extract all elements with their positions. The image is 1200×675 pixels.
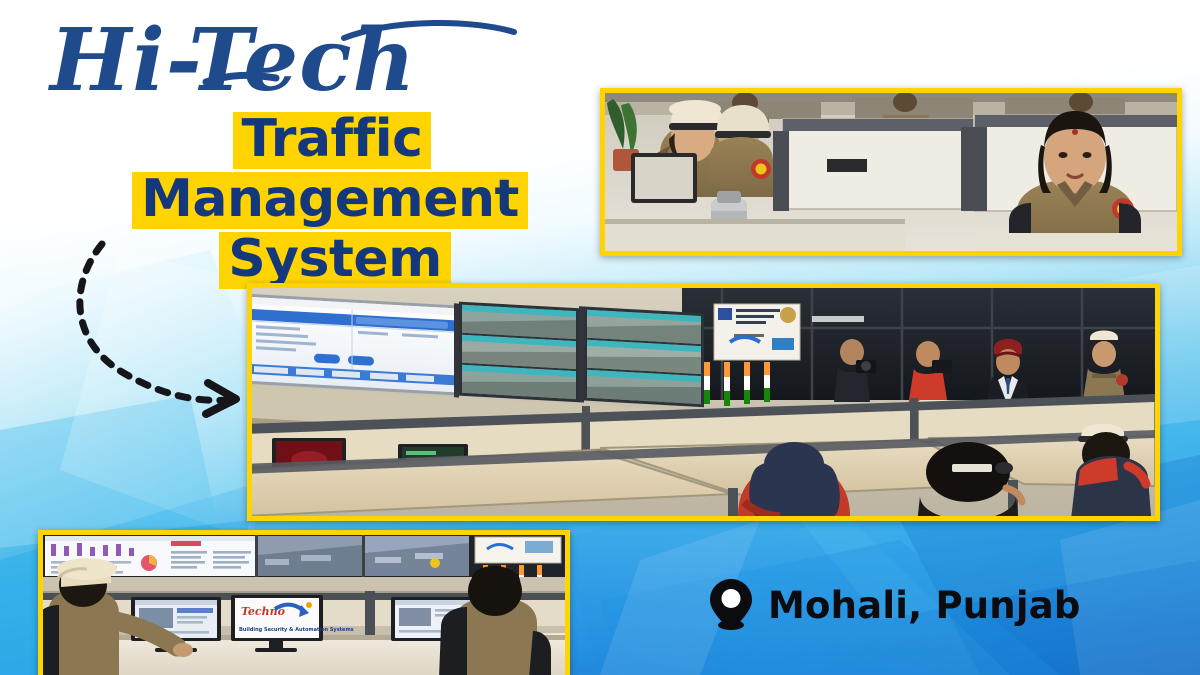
- page-title: Traffic Management System: [80, 112, 580, 292]
- video-wall-banner-text: MANAGEMENT SYSTEM: [552, 288, 811, 291]
- location-badge: Mohali, Punjab: [708, 578, 1081, 632]
- photo-control-room-video-wall: MANAGEMENT SYSTEM: [247, 283, 1160, 521]
- photo-controlroom-scene: MANAGEMENT SYSTEM: [252, 288, 1155, 516]
- title-line-1-text: Traffic: [233, 112, 432, 169]
- photo-operators-at-monitors: Techno Building Security & Automation Sy…: [38, 530, 570, 675]
- photo-operators-scene: Techno Building Security & Automation Sy…: [43, 535, 565, 675]
- map-pin-icon: [708, 578, 754, 632]
- title-line-1: Traffic: [80, 112, 580, 169]
- poster-canvas: Hi-Tech Traffic Management System: [0, 0, 1200, 675]
- location-label: Mohali, Punjab: [768, 584, 1081, 627]
- script-title: Hi-Tech: [44, 8, 604, 118]
- photo-officers-scene: [605, 93, 1177, 251]
- monitor-logo-subtext: Building Security & Automation Systems: [239, 627, 354, 633]
- title-line-3-text: System: [219, 232, 451, 289]
- title-line-2: Management: [80, 172, 580, 229]
- script-title-text: Hi-Tech: [47, 10, 416, 111]
- photo-police-officers-workstations: [600, 88, 1182, 256]
- title-line-3: System: [80, 232, 580, 289]
- title-line-2-text: Management: [132, 172, 528, 229]
